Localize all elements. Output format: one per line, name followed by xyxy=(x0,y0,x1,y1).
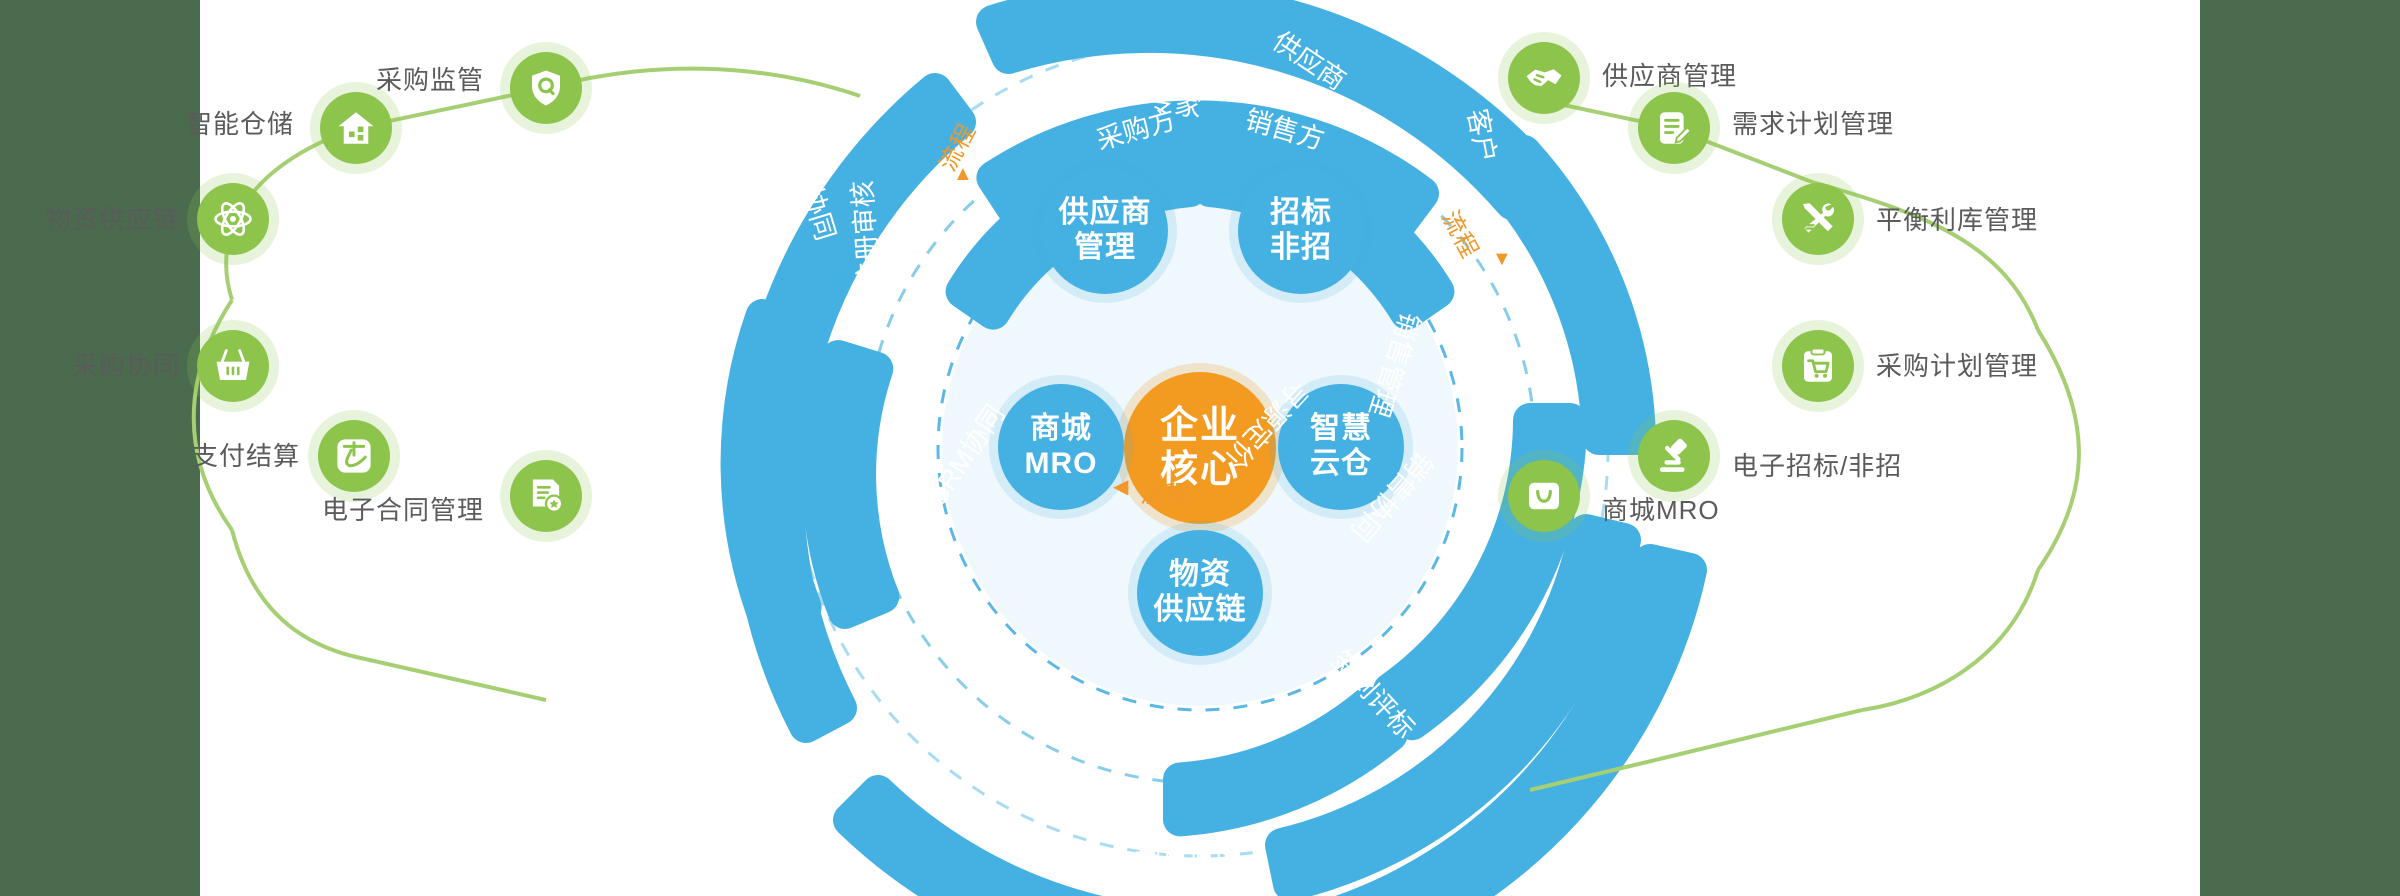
node-balanced-inventory-management[interactable] xyxy=(1782,183,1854,255)
node-electronic-contract-management[interactable] xyxy=(510,460,582,532)
petal-line-1: 招标 xyxy=(1270,196,1332,231)
node-smart-warehousing[interactable] xyxy=(320,92,392,164)
petal-line-1: 物资 xyxy=(1169,558,1231,593)
basket-icon xyxy=(212,345,254,387)
petal-line-2: 云仓 xyxy=(1310,447,1372,482)
node-demand-plan-management[interactable] xyxy=(1638,92,1710,164)
node-label-procurement-plan-management: 采购计划管理 xyxy=(1876,353,2038,379)
petal-bidding-nonbidding[interactable]: 招标 非招 xyxy=(1238,168,1364,294)
node-label-supplier-management: 供应商管理 xyxy=(1602,63,1737,89)
node-label-electronic-bidding: 电子招标/非招 xyxy=(1732,453,1902,479)
ring-middle-label-registration-review: 注册审核 xyxy=(840,180,886,290)
gavel-icon xyxy=(1653,435,1695,477)
flow-label: 流程 xyxy=(1140,481,1190,508)
node-procurement-supervision[interactable] xyxy=(510,52,582,124)
petal-line-2: MRO xyxy=(1025,447,1098,482)
petal-supplier-management[interactable]: 供应商 管理 xyxy=(1042,168,1168,294)
node-electronic-bidding[interactable] xyxy=(1638,420,1710,492)
node-label-mall-mro: 商城MRO xyxy=(1602,497,1720,523)
node-label-procurement-collaboration: 采购协同 xyxy=(72,353,180,379)
petal-line-1: 商城 xyxy=(1030,412,1092,447)
ring-middle-arc-srm-collaboration[interactable] xyxy=(819,357,882,612)
flow-arrow-right-icon: ▼ xyxy=(1492,248,1512,271)
contract-star-icon xyxy=(525,475,567,517)
petal-line-1: 供应商 xyxy=(1059,196,1152,231)
note-edit-icon xyxy=(1653,107,1695,149)
atom-icon xyxy=(212,198,254,240)
ring-middle-label-expert: 专家 xyxy=(1146,78,1205,124)
handshake-icon xyxy=(1523,57,1565,99)
petal-line-2: 非招 xyxy=(1270,231,1332,266)
node-label-demand-plan-management: 需求计划管理 xyxy=(1732,111,1894,137)
alipay-icon xyxy=(333,435,375,477)
node-label-procurement-supervision: 采购监管 xyxy=(376,67,484,93)
node-mall-mro[interactable] xyxy=(1508,460,1580,532)
node-label-electronic-contract-management: 电子合同管理 xyxy=(322,497,484,523)
flow-marker-bottom: 流程 xyxy=(1140,474,1190,509)
shield-q-icon xyxy=(525,67,567,109)
node-material-supply-chain[interactable] xyxy=(197,183,269,255)
ring-outer-label-sales-collaboration-bottom: 销售协同 xyxy=(1133,824,1243,869)
petal-line-2: 管理 xyxy=(1074,231,1136,266)
petal-mall-mro[interactable]: 商城 MRO xyxy=(998,384,1124,510)
node-procurement-plan-management[interactable] xyxy=(1782,330,1854,402)
node-supplier-management[interactable] xyxy=(1508,42,1580,114)
node-label-material-supply-chain: 物资供应链 xyxy=(45,206,180,232)
flow-arrow-bottom-icon: ◀ xyxy=(1113,474,1128,499)
flow-arrow-left-icon: ▲ xyxy=(953,163,973,186)
warehouse-home-icon xyxy=(335,107,377,149)
node-label-payment-settlement: 支付结算 xyxy=(192,443,300,469)
tools-icon xyxy=(1797,198,1839,240)
shopping-bag-icon xyxy=(1523,475,1565,517)
petal-line-1: 智慧 xyxy=(1310,412,1372,447)
node-label-balanced-inventory-management: 平衡利库管理 xyxy=(1876,207,2038,233)
clipboard-cart-icon xyxy=(1797,345,1839,387)
node-label-smart-warehousing: 智能仓储 xyxy=(186,111,294,137)
node-payment-settlement[interactable] xyxy=(318,420,390,492)
petal-material-supply-chain[interactable]: 物资 供应链 xyxy=(1137,530,1263,656)
diagram-canvas: 企业 核心 供应商 管理 招标 非招 智慧 云仓 物资 供应链 商城 MRO 采… xyxy=(0,0,2400,896)
node-procurement-collaboration[interactable] xyxy=(197,330,269,402)
ring-outer-arc-customer[interactable] xyxy=(1494,152,1639,438)
petal-line-2: 供应链 xyxy=(1154,593,1247,628)
